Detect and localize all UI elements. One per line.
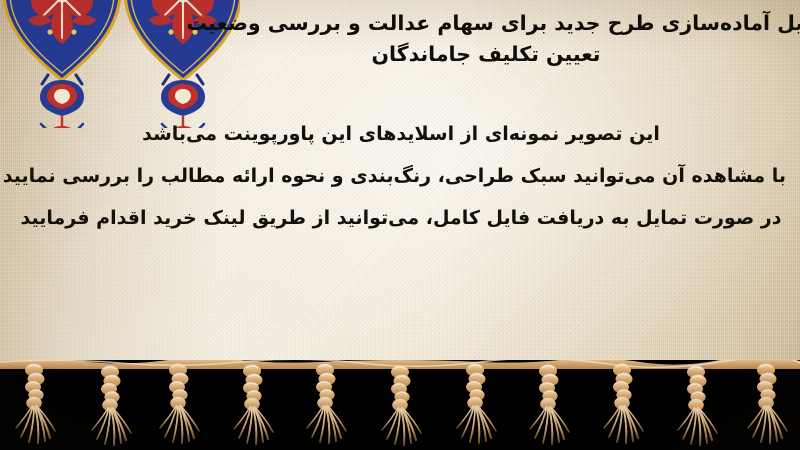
fringe-tassels-svg (0, 360, 800, 450)
slide-title: لیل آماده‌سازی طرح جدید برای سهام عدالت … (176, 8, 796, 70)
slide-title-line-1: لیل آماده‌سازی طرح جدید برای سهام عدالت … (176, 8, 800, 39)
body-line-3: در صورت تمایل به دریافت فایل کامل، می‌تو… (16, 197, 786, 239)
slide-title-line-2: تعیین تکلیف جاماندگان (176, 39, 796, 70)
slide-canvas: لیل آماده‌سازی طرح جدید برای سهام عدالت … (0, 0, 800, 450)
carpet-fringe (0, 360, 800, 450)
tassel-row (16, 364, 787, 446)
body-line-2: با مشاهده آن می‌توانید سبک طراحی، رنگ‌بن… (16, 155, 786, 197)
slide-body: این تصویر نمونه‌ای از اسلایدهای این پاور… (16, 113, 786, 239)
body-line-1: این تصویر نمونه‌ای از اسلایدهای این پاور… (16, 113, 786, 155)
